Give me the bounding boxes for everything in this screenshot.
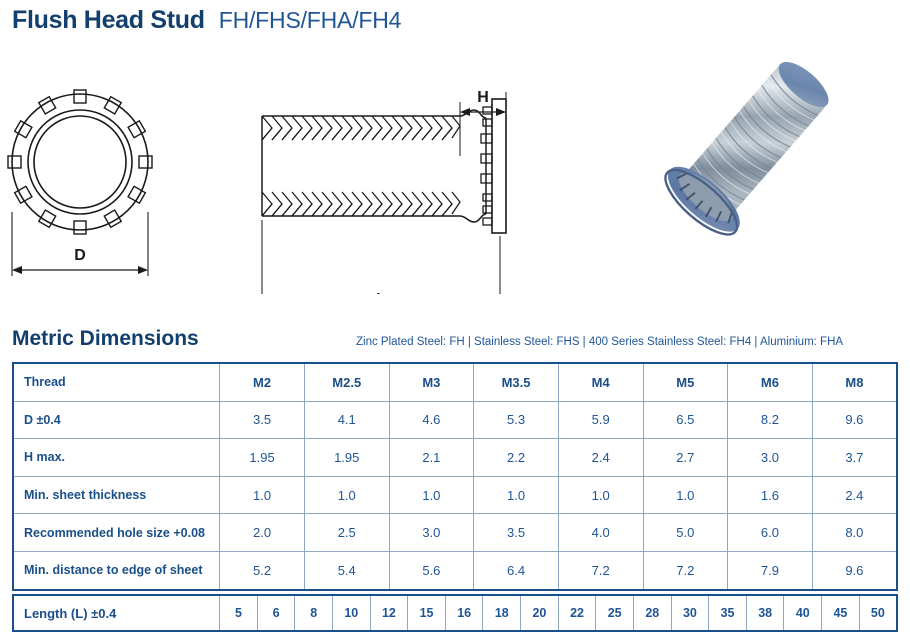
length-cell-6: 6 [257,595,295,631]
cell-mde-m3: 5.6 [389,551,474,589]
length-cell-18: 18 [483,595,521,631]
cell-mst-m4: 1.0 [558,476,643,514]
cell-d-m6: 8.2 [728,401,813,439]
cell-mde-m2: 5.2 [220,551,305,589]
cell-h-m2: 1.95 [220,439,305,477]
cell-rhs-m5: 5.0 [643,514,728,552]
cell-d-m8: 9.6 [812,401,897,439]
cell-mst-m8: 2.4 [812,476,897,514]
table-row: Min. sheet thickness 1.0 1.0 1.0 1.0 1.0… [13,476,897,514]
row-label-length: Length (L) ±0.4 [13,595,220,631]
length-cell-35: 35 [709,595,747,631]
length-cell-5: 5 [220,595,258,631]
length-cell-38: 38 [746,595,784,631]
cell-mde-m4: 7.2 [558,551,643,589]
cell-rhs-m3-5: 3.5 [474,514,559,552]
column-header-m2-5: M2.5 [304,363,389,401]
materials-legend: Zinc Plated Steel: FH | Stainless Steel:… [356,336,843,348]
column-header-m8: M8 [812,363,897,401]
dimension-label-h: H [477,89,489,106]
row-label-h-max: H max. [13,439,220,477]
section-heading: Metric Dimensions [12,327,199,351]
table-row: H max. 1.95 1.95 2.1 2.2 2.4 2.7 3.0 3.7 [13,439,897,477]
dimension-label-d: D [74,247,86,264]
cell-h-m5: 2.7 [643,439,728,477]
cell-rhs-m8: 8.0 [812,514,897,552]
length-cell-50: 50 [859,595,897,631]
cell-rhs-m3: 3.0 [389,514,474,552]
cell-d-m2-5: 4.1 [304,401,389,439]
cell-mde-m6: 7.9 [728,551,813,589]
row-label-min-distance-edge: Min. distance to edge of sheet [13,551,220,589]
cell-mde-m3-5: 6.4 [474,551,559,589]
cell-rhs-m2-5: 2.5 [304,514,389,552]
cell-mde-m5: 7.2 [643,551,728,589]
length-cell-45: 45 [822,595,860,631]
cell-d-m5: 6.5 [643,401,728,439]
row-label-d: D ±0.4 [13,401,220,439]
row-label-min-sheet-thickness: Min. sheet thickness [13,476,220,514]
cell-d-m3-5: 5.3 [474,401,559,439]
cell-h-m4: 2.4 [558,439,643,477]
length-options-table: Length (L) ±0.4 5 6 8 10 12 15 16 18 20 … [12,594,898,632]
cell-mde-m2-5: 5.4 [304,551,389,589]
metric-dimensions-table: Thread M2 M2.5 M3 M3.5 M4 M5 M6 M8 D ±0.… [12,362,898,591]
table-row: Min. distance to edge of sheet 5.2 5.4 5… [13,551,897,589]
length-cell-12: 12 [370,595,408,631]
cell-mst-m6: 1.6 [728,476,813,514]
column-header-m2: M2 [220,363,305,401]
side-view-drawing [262,92,506,294]
column-header-thread: Thread [13,363,220,401]
length-cell-30: 30 [671,595,709,631]
page-title: Flush Head Stud [12,6,205,35]
column-header-m3: M3 [389,363,474,401]
column-header-m3-5: M3.5 [474,363,559,401]
cell-h-m2-5: 1.95 [304,439,389,477]
cell-mde-m8: 9.6 [812,551,897,589]
length-cell-16: 16 [445,595,483,631]
cell-d-m2: 3.5 [220,401,305,439]
length-cell-20: 20 [521,595,559,631]
table-row: Recommended hole size +0.08 2.0 2.5 3.0 … [13,514,897,552]
length-cell-8: 8 [295,595,333,631]
length-cell-25: 25 [596,595,634,631]
cell-rhs-m4: 4.0 [558,514,643,552]
column-header-m4: M4 [558,363,643,401]
cell-mst-m3-5: 1.0 [474,476,559,514]
cell-mst-m5: 1.0 [643,476,728,514]
cell-mst-m2-5: 1.0 [304,476,389,514]
column-header-m5: M5 [643,363,728,401]
dimension-label-l: L [376,291,386,294]
row-label-recommended-hole-size: Recommended hole size +0.08 [13,514,220,552]
column-header-m6: M6 [728,363,813,401]
product-photo [652,58,902,288]
product-photo-svg [652,58,902,288]
length-cell-22: 22 [558,595,596,631]
cell-mst-m2: 1.0 [220,476,305,514]
length-cell-10: 10 [332,595,370,631]
cell-mst-m3: 1.0 [389,476,474,514]
cell-h-m3-5: 2.2 [474,439,559,477]
cell-d-m4: 5.9 [558,401,643,439]
cell-rhs-m2: 2.0 [220,514,305,552]
cell-h-m8: 3.7 [812,439,897,477]
cell-h-m3: 2.1 [389,439,474,477]
datasheet-page: Flush Head Stud FH/FHS/FHA/FH4 [0,0,910,634]
table-row: D ±0.4 3.5 4.1 4.6 5.3 5.9 6.5 8.2 9.6 [13,401,897,439]
cell-rhs-m6: 6.0 [728,514,813,552]
length-cell-28: 28 [633,595,671,631]
table-header-row: Thread M2 M2.5 M3 M3.5 M4 M5 M6 M8 [13,363,897,401]
length-row: Length (L) ±0.4 5 6 8 10 12 15 16 18 20 … [13,595,897,631]
part-codes: FH/FHS/FHA/FH4 [219,7,401,34]
length-cell-15: 15 [408,595,446,631]
length-cell-40: 40 [784,595,822,631]
cell-h-m6: 3.0 [728,439,813,477]
cell-d-m3: 4.6 [389,401,474,439]
page-header: Flush Head Stud FH/FHS/FHA/FH4 [12,6,401,35]
